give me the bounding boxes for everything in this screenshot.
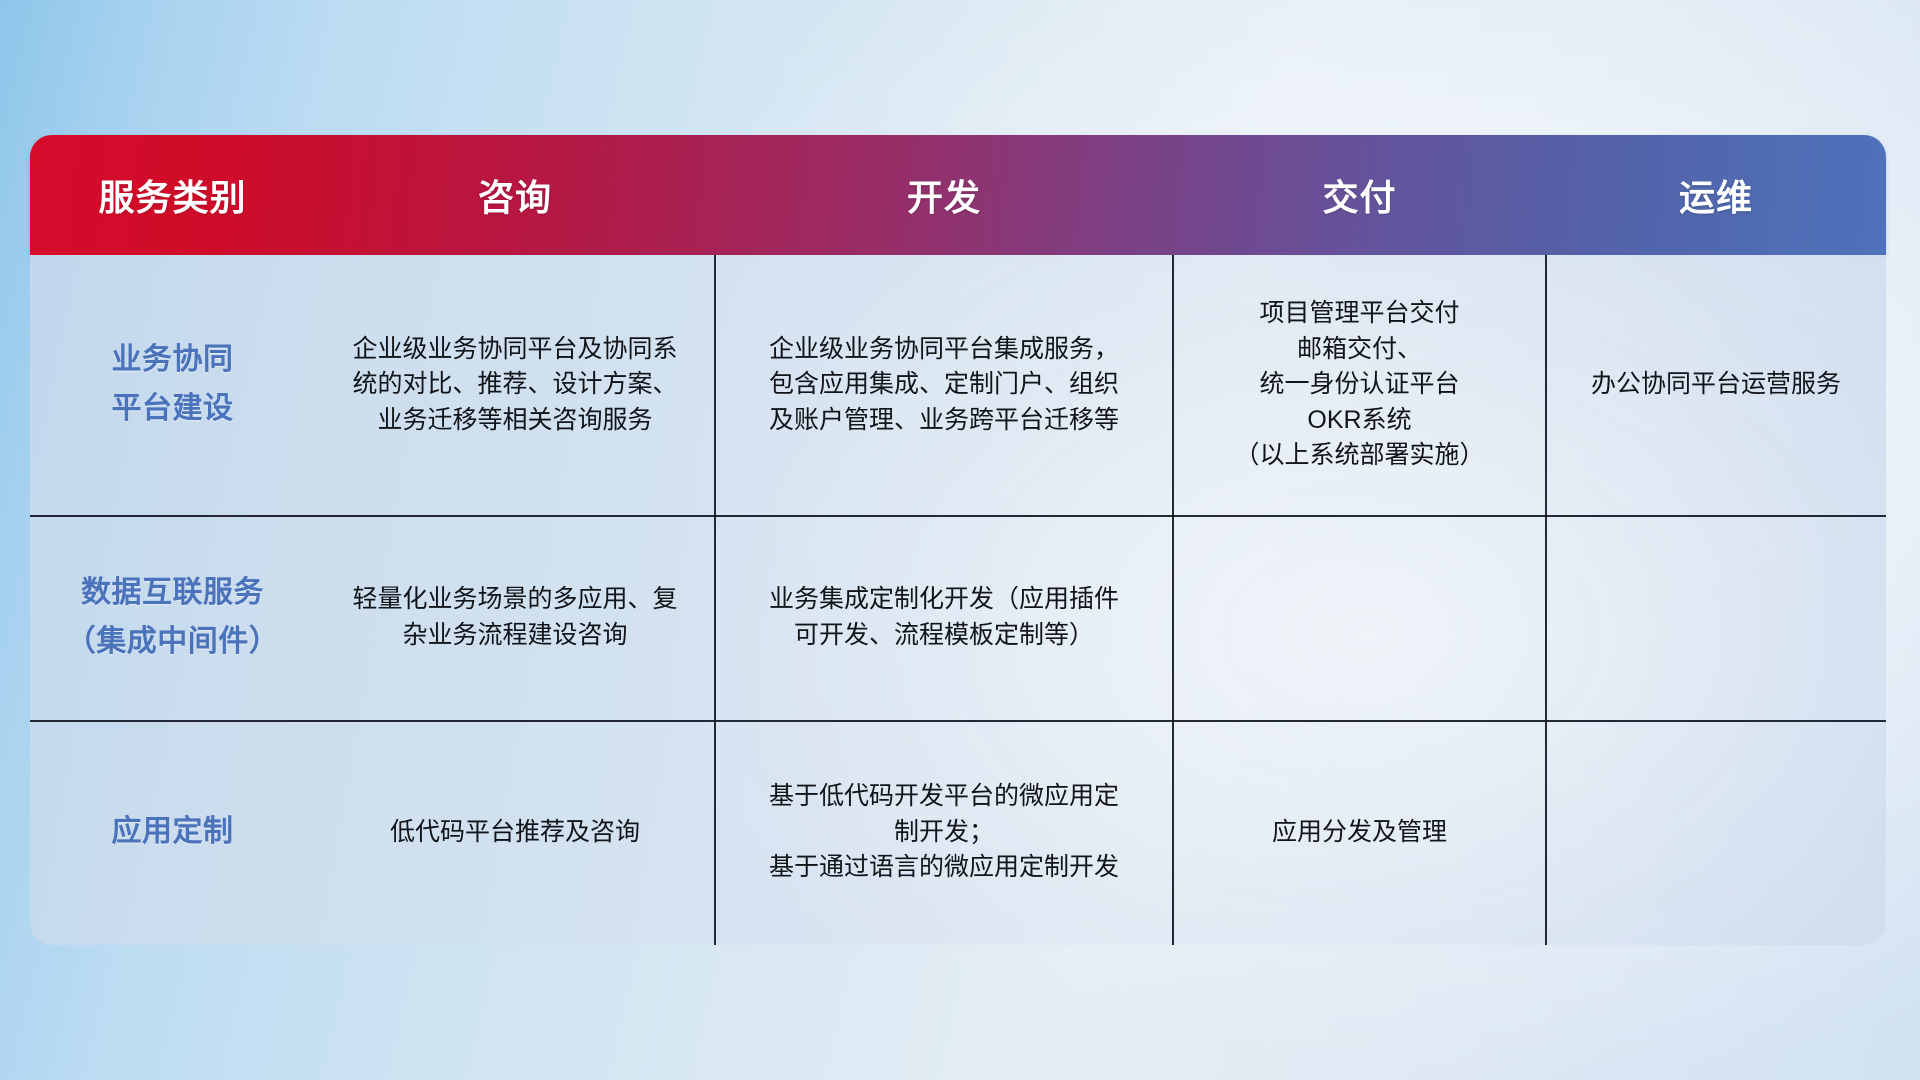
cell-delivery: 项目管理平台交付 邮箱交付、 统一身份认证平台 OKR系统 （以上系统部署实施）: [1173, 255, 1546, 515]
cell-development: 业务集成定制化开发（应用插件 可开发、流程模板定制等）: [715, 515, 1173, 720]
table-header-row: 服务类别 咨询 开发 交付 运维: [30, 135, 1886, 255]
table-body: 业务协同 平台建设 企业级业务协同平台及协同系 统的对比、推荐、设计方案、 业务…: [30, 255, 1886, 945]
table-row: 业务协同 平台建设 企业级业务协同平台及协同系 统的对比、推荐、设计方案、 业务…: [30, 255, 1886, 515]
column-header-delivery: 交付: [1173, 169, 1546, 221]
cell-delivery: [1173, 515, 1546, 720]
cell-development: 企业级业务协同平台集成服务， 包含应用集成、定制门户、组织 及账户管理、业务跨平…: [715, 255, 1173, 515]
cell-development: 基于低代码开发平台的微应用定 制开发； 基于通过语言的微应用定制开发: [715, 720, 1173, 945]
cell-consulting: 轻量化业务场景的多应用、复 杂业务流程建设咨询: [315, 515, 715, 720]
cell-consulting: 低代码平台推荐及咨询: [315, 720, 715, 945]
row-label-application-customization: 应用定制: [30, 720, 315, 945]
table-row: 应用定制 低代码平台推荐及咨询 基于低代码开发平台的微应用定 制开发； 基于通过…: [30, 720, 1886, 945]
column-divider: [1172, 255, 1174, 945]
row-divider: [30, 720, 1886, 722]
column-header-consulting: 咨询: [315, 169, 715, 221]
row-divider: [30, 515, 1886, 517]
service-matrix-table: 服务类别 咨询 开发 交付 运维 业务协同 平台建设 企业级业务协同平台及协同系…: [30, 135, 1886, 945]
row-label-data-interconnection-service: 数据互联服务 （集成中间件）: [30, 515, 315, 720]
column-header-service-category: 服务类别: [30, 169, 315, 221]
column-divider: [714, 255, 716, 945]
cell-operations: [1546, 515, 1886, 720]
column-header-operations: 运维: [1546, 169, 1886, 221]
column-header-development: 开发: [715, 169, 1173, 221]
cell-operations: [1546, 720, 1886, 945]
cell-consulting: 企业级业务协同平台及协同系 统的对比、推荐、设计方案、 业务迁移等相关咨询服务: [315, 255, 715, 515]
row-label-business-collaboration-platform: 业务协同 平台建设: [30, 255, 315, 515]
column-divider: [1545, 255, 1547, 945]
cell-operations: 办公协同平台运营服务: [1546, 255, 1886, 515]
table-row: 数据互联服务 （集成中间件） 轻量化业务场景的多应用、复 杂业务流程建设咨询 业…: [30, 515, 1886, 720]
cell-delivery: 应用分发及管理: [1173, 720, 1546, 945]
